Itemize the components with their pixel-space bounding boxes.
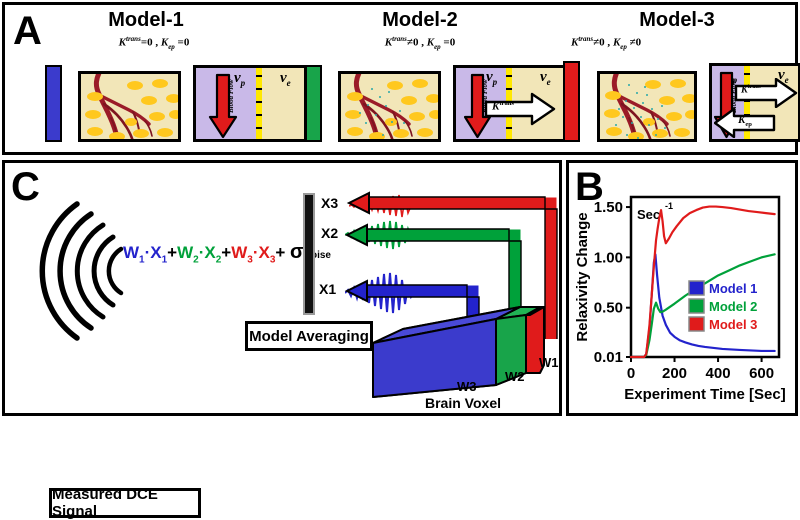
unit-annotation: Sec (637, 207, 660, 222)
model-1-membrane (256, 68, 262, 139)
y-tick-label: 0.50 (594, 300, 623, 317)
y-axis-label: Relaxivity Change (574, 212, 591, 341)
x-tick-label: 200 (662, 365, 687, 382)
model-1-blood-flow-arrow: Blood Flow (208, 73, 238, 142)
model-2-compartment-box: vp ve Blood Flow Ktrans (453, 65, 567, 142)
model-2-equation: Ktrans≠0 , Kep =0 (291, 35, 549, 51)
model-1-equation: Ktrans=0 , Kep =0 (25, 35, 283, 51)
kep-arrow: Kep (714, 108, 776, 138)
x-tick-label: 600 (749, 365, 774, 382)
voxel-segment-label-w1: W1 (539, 355, 559, 370)
relaxivity-chart: 0.010.501.001.500200400600Experiment Tim… (569, 163, 795, 413)
model-3-title: Model-3 (553, 9, 800, 32)
model-1-ve-label: ve (280, 70, 291, 88)
equation-term-2: W2·X2 (177, 243, 221, 262)
kep-arrow-label: Kep (738, 114, 752, 128)
model-2-tissue-box (338, 71, 441, 142)
legend-label: Model 1 (709, 281, 757, 296)
model-3-equation: Ktrans≠0 , Kep ≠0 (571, 35, 641, 51)
voxel-segment-label-w2: W2 (505, 369, 525, 384)
ktrans-symbol: K (119, 37, 126, 49)
model-2-title: Model-2 (291, 9, 549, 32)
model-1-compartment-box: vp ve Blood Flow (193, 65, 307, 142)
ktrans-arrow-label: Ktrans (741, 84, 761, 95)
model-3-column: Model-3 Ktrans≠0 , Kep ≠0 (553, 5, 800, 158)
equation-term-1: W1·X1 (123, 243, 167, 262)
model-1-column: Model-1 Ktrans=0 , Kep =0 (25, 5, 283, 158)
signal-wave-arcs (17, 201, 129, 341)
model-3-tissue-box (597, 71, 697, 142)
model-3-compartment-box: vp ve Blood Flow Ktrans (709, 63, 800, 142)
legend-label: Model 3 (709, 317, 757, 332)
model-1-title: Model-1 (17, 9, 275, 32)
panel-b: B 0.010.501.001.500200400600Experiment T… (566, 160, 798, 416)
legend-label: Model 2 (709, 299, 757, 314)
voxel-segment-label-w3: W3 (457, 379, 477, 394)
y-tick-label: 1.00 (594, 249, 623, 266)
ktrans-arrow: Ktrans (734, 78, 798, 108)
x-tick-label: 0 (627, 365, 635, 382)
ktrans-arrow: Ktrans (484, 92, 556, 126)
legend-swatch (689, 299, 704, 313)
panel-a: A Model-1 Ktrans=0 , Kep =0 (2, 2, 798, 155)
panel-c: C W1·X1+W2·X2+W3·X3+ σNoise Measured DCE… (2, 160, 562, 416)
legend-swatch (689, 281, 704, 295)
figure-root: A Model-1 Ktrans=0 , Kep =0 (0, 0, 800, 418)
ktrans-arrow-label: Ktrans (492, 100, 514, 113)
unit-exponent: -1 (665, 201, 673, 211)
legend-swatch (689, 317, 704, 331)
y-tick-label: 0.01 (594, 349, 623, 366)
dce-signal-equation: W1·X1+W2·X2+W3·X3+ σNoise (123, 241, 331, 265)
y-tick-label: 1.50 (594, 199, 623, 216)
x-tick-label: 400 (706, 365, 731, 382)
model-2-colorbar (305, 65, 322, 142)
brain-voxel-caption: Brain Voxel (425, 395, 501, 411)
model-3-colorbar (563, 61, 580, 142)
model-averaging-bar (303, 193, 315, 315)
equation-noise-term: σ (290, 241, 304, 263)
model-1-tissue-box (78, 71, 181, 142)
equation-term-3: W3·X3 (231, 243, 275, 262)
measured-dce-signal-box: Measured DCE Signal (49, 488, 201, 518)
model-1-blood-flow-label: Blood Flow (227, 79, 235, 113)
model-1-colorbar (45, 65, 62, 142)
trace-label-x1: X1 (319, 281, 336, 297)
x-axis-label: Experiment Time [Sec] (624, 386, 785, 403)
model-2-ve-label: ve (540, 69, 551, 87)
model-2-column: Model-2 Ktrans≠0 , Kep =0 (291, 5, 549, 158)
